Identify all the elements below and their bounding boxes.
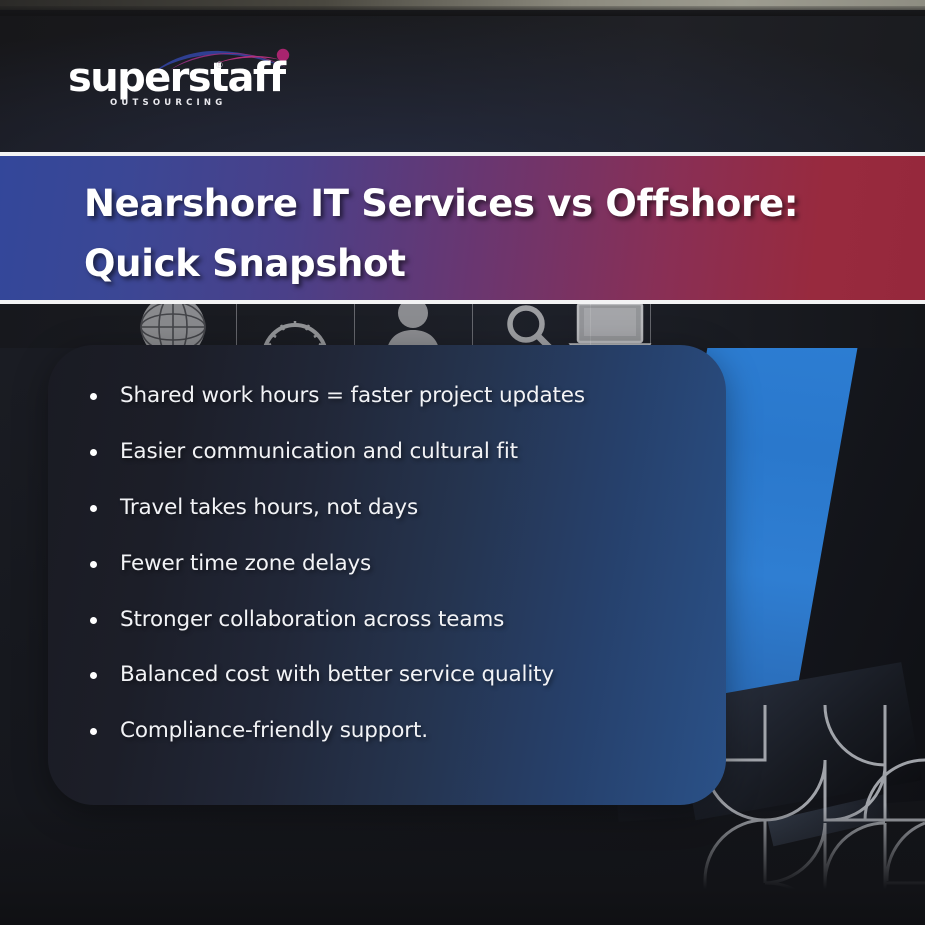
title-banner: Nearshore IT Services vs Offshore: Quick…: [0, 152, 925, 304]
monitor-icon: [568, 304, 654, 348]
icon-cell-globe: [118, 302, 237, 348]
search-icon: [502, 302, 560, 348]
icon-cell-monitor: [590, 302, 651, 348]
globe-icon: [136, 302, 210, 348]
list-item: Travel takes hours, not days: [84, 495, 694, 522]
logo-tagline: OUTSOURCING: [110, 98, 226, 108]
banner-gradient: Nearshore IT Services vs Offshore: Quick…: [0, 156, 925, 300]
superstaff-logo[interactable]: superstaff ® OUTSOURCING: [68, 52, 308, 110]
page-title: Nearshore IT Services vs Offshore: Quick…: [84, 174, 844, 294]
logo-wordmark: superstaff: [68, 58, 285, 98]
list-item: Compliance-friendly support.: [84, 718, 694, 745]
person-icon: [382, 302, 444, 348]
bottom-fade: [0, 805, 925, 925]
list-item: Easier communication and cultural fit: [84, 439, 694, 466]
icon-cell-person: [354, 302, 473, 348]
bullet-list: Shared work hours = faster project updat…: [84, 383, 694, 745]
list-item: Shared work hours = faster project updat…: [84, 383, 694, 410]
icon-cell-gauge: [236, 302, 355, 348]
list-item: Fewer time zone delays: [84, 551, 694, 578]
banner-rule-bottom: [0, 300, 925, 304]
list-item: Balanced cost with better service qualit…: [84, 662, 694, 689]
background-icon-strip: [0, 302, 925, 348]
bullet-card: Shared work hours = faster project updat…: [48, 345, 726, 805]
top-strip-fade: [0, 6, 925, 16]
list-item: Stronger collaboration across teams: [84, 607, 694, 634]
slide: superstaff ® OUTSOURCING: [0, 0, 925, 925]
logo-trademark: ®: [216, 60, 223, 70]
gauge-icon: [258, 308, 332, 348]
